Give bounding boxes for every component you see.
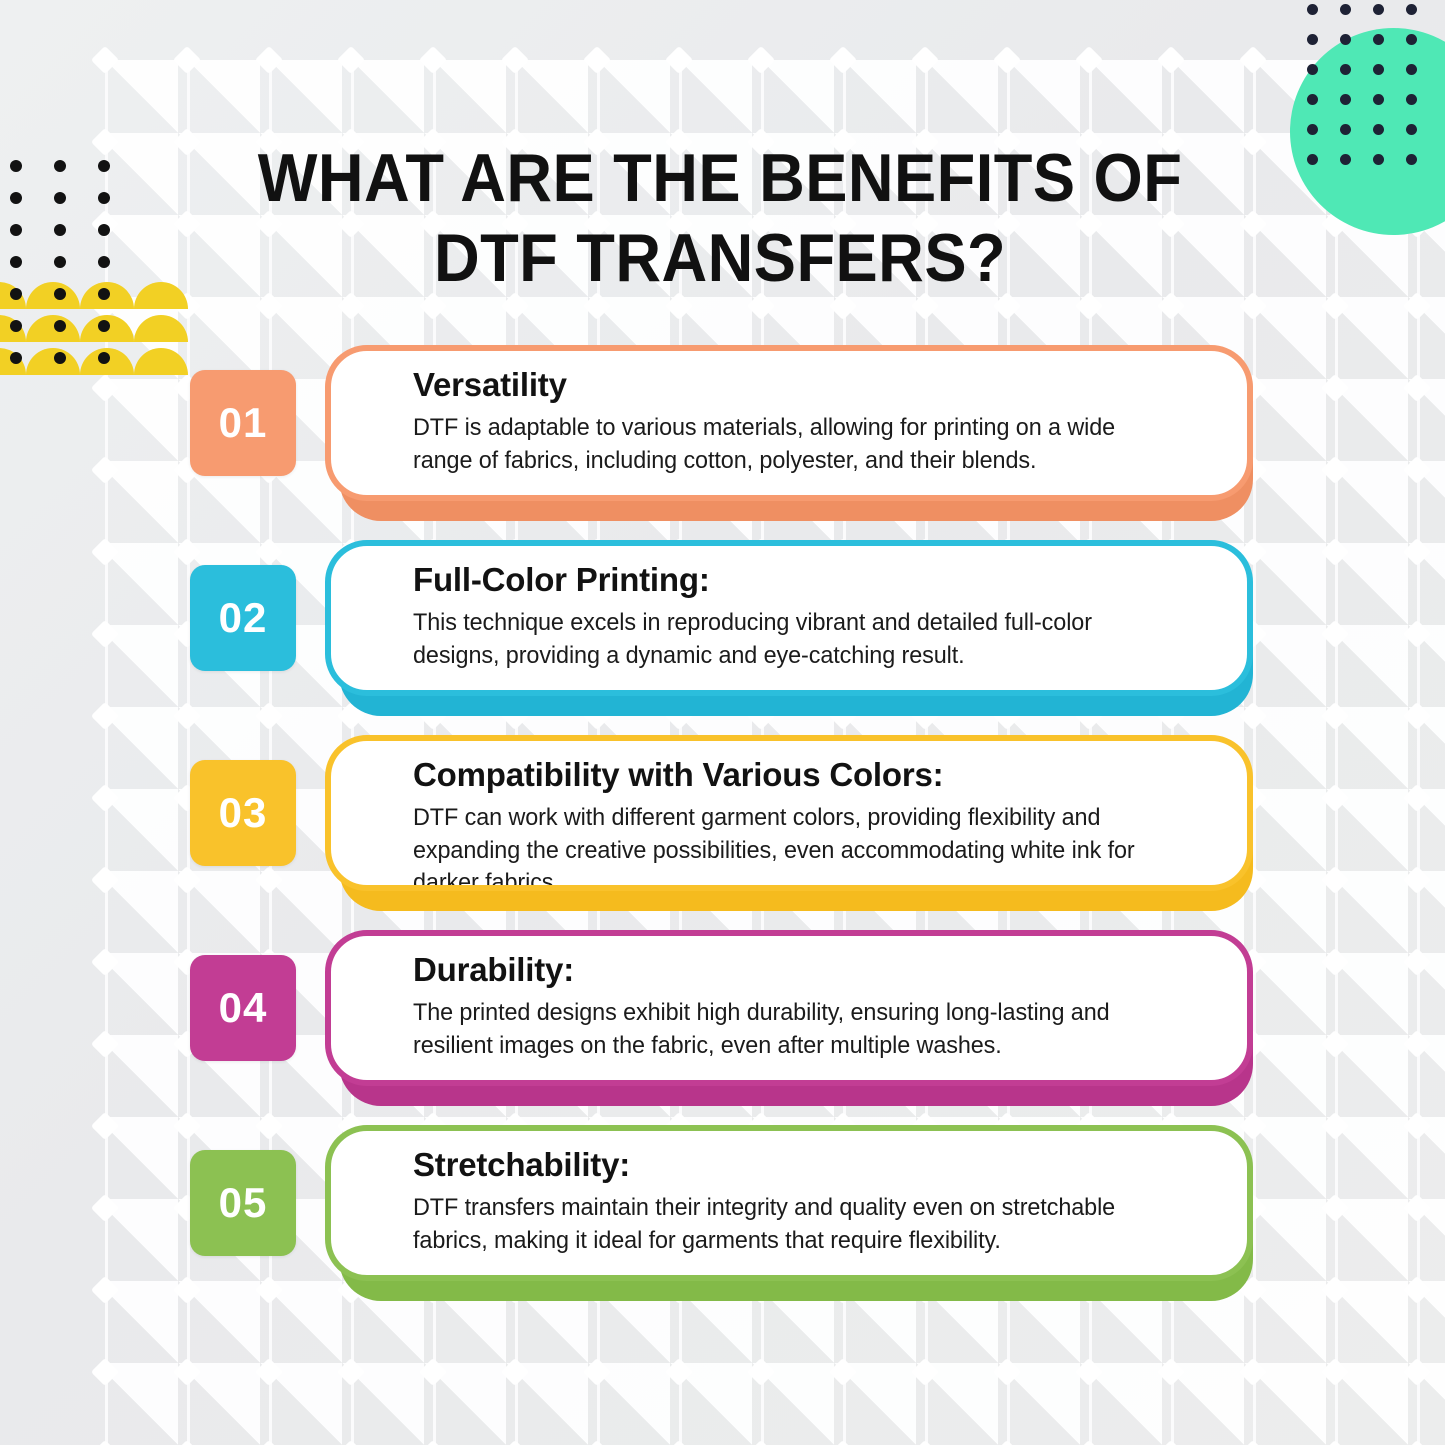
benefit-card[interactable]: Durability:The printed designs exhibit h… (325, 930, 1253, 1086)
benefit-card[interactable]: Compatibility with Various Colors:DTF ca… (325, 735, 1253, 891)
left-dot-grid-icon (10, 160, 120, 370)
benefit-card[interactable]: Full-Color Printing:This technique excel… (325, 540, 1253, 696)
benefit-number: 04 (219, 984, 268, 1032)
benefit-card[interactable]: Stretchability:DTF transfers maintain th… (325, 1125, 1253, 1281)
page-title: WHAT ARE THE BENEFITS OF DTF TRANSFERS? (190, 138, 1250, 298)
benefit-number: 02 (219, 594, 268, 642)
benefit-number-badge: 05 (190, 1150, 296, 1256)
benefit-heading: Full-Color Printing: (413, 562, 1207, 598)
benefit-row[interactable]: 05Stretchability:DTF transfers maintain … (0, 1123, 1445, 1318)
benefit-body: DTF is adaptable to various materials, a… (413, 412, 1171, 477)
benefit-heading: Durability: (413, 952, 1207, 988)
benefit-row[interactable]: 04Durability:The printed designs exhibit… (0, 928, 1445, 1123)
mint-circle-decoration (1290, 28, 1445, 235)
benefits-list: 01VersatilityDTF is adaptable to various… (0, 343, 1445, 1318)
benefit-card[interactable]: VersatilityDTF is adaptable to various m… (325, 345, 1253, 501)
benefit-row[interactable]: 02Full-Color Printing:This technique exc… (0, 538, 1445, 733)
infographic-canvas: WHAT ARE THE BENEFITS OF DTF TRANSFERS? … (0, 0, 1445, 1445)
benefit-body: The printed designs exhibit high durabil… (413, 997, 1171, 1062)
benefit-number-badge: 04 (190, 955, 296, 1061)
benefit-number: 05 (219, 1179, 268, 1227)
benefit-heading: Stretchability: (413, 1147, 1207, 1183)
benefit-number: 01 (219, 399, 268, 447)
benefit-number-badge: 01 (190, 370, 296, 476)
benefit-number: 03 (219, 789, 268, 837)
benefit-number-badge: 03 (190, 760, 296, 866)
benefit-heading: Versatility (413, 367, 1207, 403)
benefit-body: DTF can work with different garment colo… (413, 802, 1171, 891)
benefit-row[interactable]: 03Compatibility with Various Colors:DTF … (0, 733, 1445, 928)
benefit-body: This technique excels in reproducing vib… (413, 607, 1171, 672)
benefit-number-badge: 02 (190, 565, 296, 671)
benefit-body: DTF transfers maintain their integrity a… (413, 1192, 1171, 1257)
benefit-row[interactable]: 01VersatilityDTF is adaptable to various… (0, 343, 1445, 538)
benefit-heading: Compatibility with Various Colors: (413, 757, 1207, 793)
